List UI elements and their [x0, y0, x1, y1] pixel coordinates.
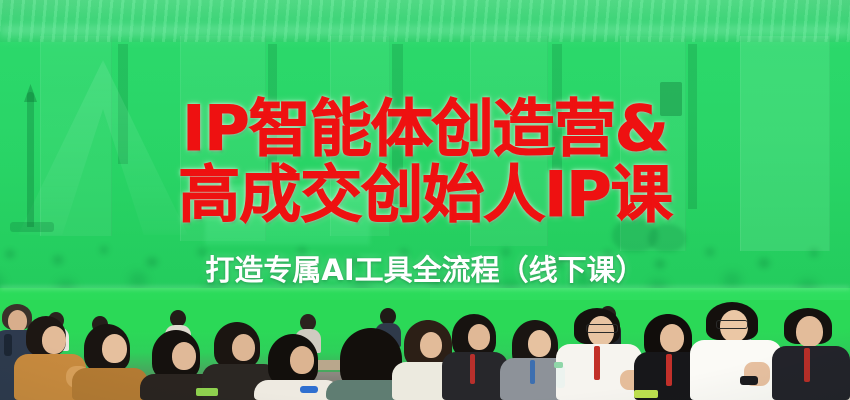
bottle-cap [554, 362, 563, 368]
water-bottle [556, 366, 565, 388]
screen-top-edge [0, 286, 850, 290]
promo-banner: IP智能体创造营& 高成交创始人IP课 打造专属AI工具全流程（线下课） [0, 0, 850, 400]
pen [300, 386, 318, 393]
notepad [196, 388, 218, 396]
green-color-overlay [0, 0, 850, 300]
notepad [634, 390, 658, 398]
foreground-attendees [0, 300, 850, 400]
